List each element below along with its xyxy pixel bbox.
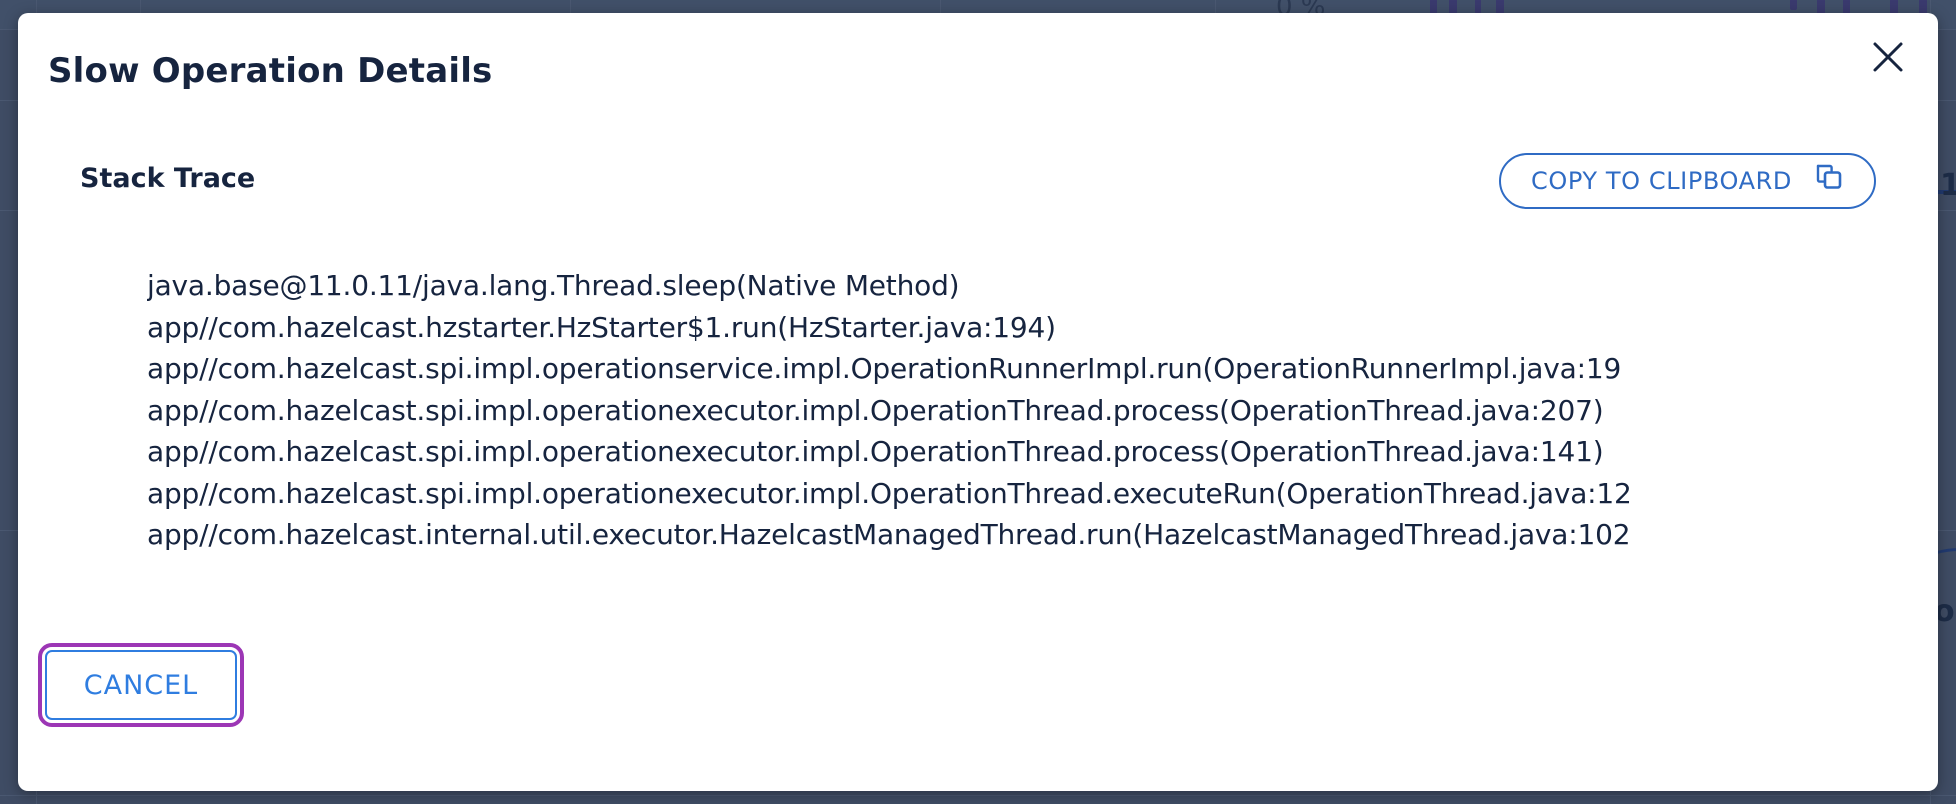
copy-button-label: COPY TO CLIPBOARD [1531, 167, 1792, 195]
copy-to-clipboard-button[interactable]: COPY TO CLIPBOARD [1499, 153, 1876, 209]
background-axis-label: 1 [1940, 168, 1956, 203]
stack-trace-line: app//com.hazelcast.spi.impl.operationexe… [147, 473, 1938, 515]
stack-trace-header-row: Stack Trace COPY TO CLIPBOARD [80, 153, 1876, 223]
stack-trace-line: app//com.hazelcast.internal.util.executo… [147, 514, 1938, 555]
background-spike [1790, 0, 1797, 10]
stack-trace-line: app//com.hazelcast.spi.impl.operationexe… [147, 431, 1938, 473]
stack-trace-line: app//com.hazelcast.spi.impl.operationexe… [147, 390, 1938, 432]
stack-trace-line: app//com.hazelcast.spi.impl.operationser… [147, 348, 1938, 390]
stack-trace-line: app//com.hazelcast.hzstarter.HzStarter$1… [147, 307, 1938, 349]
stack-trace-line: java.base@11.0.11/java.lang.Thread.sleep… [147, 265, 1938, 307]
background-spike [1475, 0, 1481, 14]
stack-trace-heading: Stack Trace [80, 163, 255, 194]
stack-trace-content: java.base@11.0.11/java.lang.Thread.sleep… [147, 265, 1938, 555]
background-divider [0, 795, 1956, 796]
copy-icon [1814, 163, 1844, 199]
close-icon[interactable] [1864, 33, 1912, 81]
page-title: Slow Operation Details [48, 51, 493, 91]
cancel-button[interactable]: CANCEL [45, 650, 237, 720]
slow-operation-details-dialog: Slow Operation Details Stack Trace COPY … [18, 13, 1938, 791]
